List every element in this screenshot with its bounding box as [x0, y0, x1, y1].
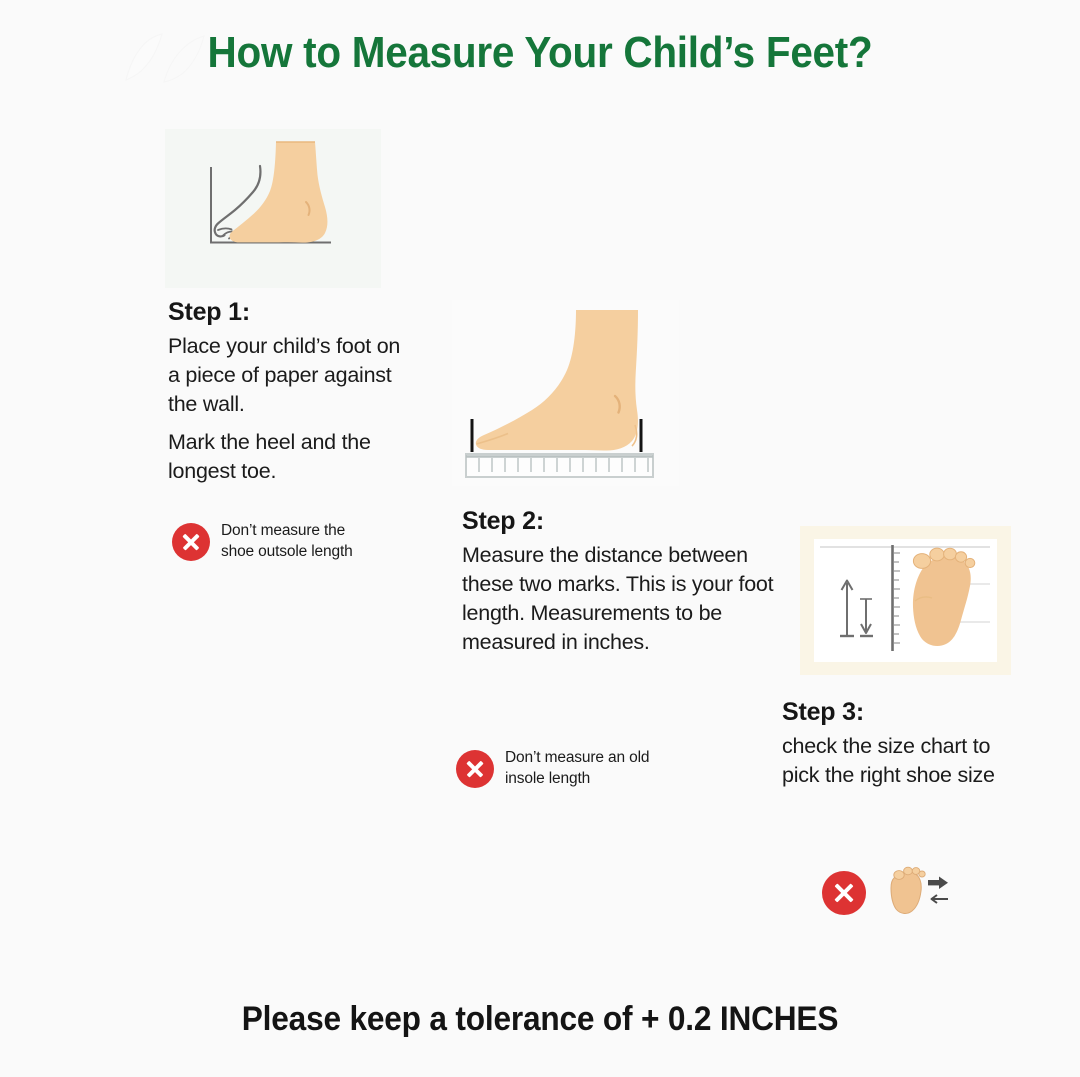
step-1-paragraph-1: Place your child’s foot on a piece of pa… — [168, 332, 408, 419]
step-3-paragraph-1: check the size chart to pick the right s… — [782, 732, 1022, 790]
step-2-paragraph-1: Measure the distance between these two m… — [462, 541, 774, 657]
step-1-paragraph-2: Mark the heel and the longest toe. — [168, 428, 408, 486]
step-2-heading: Step 2: — [462, 507, 774, 536]
step-2-text-block: Step 2: Measure the distance between the… — [462, 507, 774, 657]
foot-against-wall-icon — [165, 129, 381, 288]
step-3-warning — [822, 866, 982, 918]
step-3-text-block: Step 3: check the size chart to pick the… — [782, 698, 1022, 790]
footprint-size-chart-icon — [814, 539, 997, 662]
footprint-width-arrows-icon — [880, 866, 950, 918]
step-3-heading: Step 3: — [782, 698, 1022, 727]
step-1-heading: Step 1: — [168, 298, 408, 327]
step-2-warning: Don’t measure an old insole length — [456, 748, 656, 789]
step-3-illustration-inner — [814, 539, 997, 662]
page-title: How to Measure Your Child’s Feet? — [43, 28, 1037, 78]
tolerance-note: Please keep a tolerance of + 0.2 INCHES — [38, 1000, 1042, 1039]
red-x-circle-icon — [822, 871, 866, 915]
infographic-page: How to Measure Your Child’s Feet? Step 1… — [0, 0, 1080, 1077]
step-2-warning-text: Don’t measure an old insole length — [505, 748, 656, 789]
red-x-circle-icon — [172, 523, 210, 561]
foot-on-ruler-icon — [452, 300, 679, 486]
red-x-circle-icon — [456, 750, 494, 788]
step-1-text-block: Step 1: Place your child’s foot on a pie… — [168, 298, 408, 486]
step-1-warning: Don’t measure the shoe outsole length — [172, 521, 372, 562]
step-1-warning-text: Don’t measure the shoe outsole length — [221, 521, 372, 562]
step-2-illustration — [452, 300, 679, 486]
step-1-illustration — [165, 129, 381, 288]
step-3-illustration — [800, 526, 1011, 675]
